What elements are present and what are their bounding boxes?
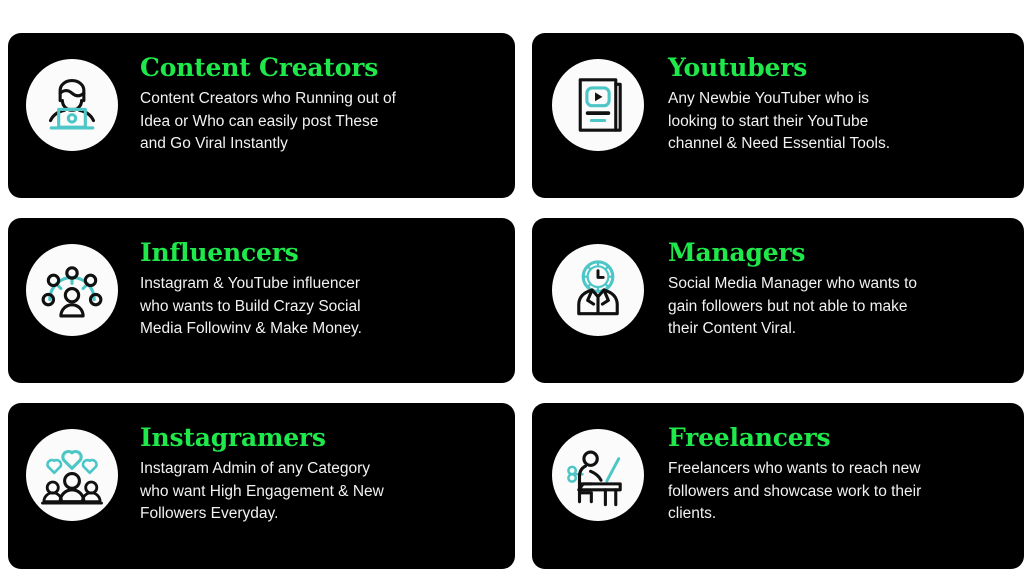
audience-card-content-creators[interactable]: Content Creators Content Creators who Ru… — [8, 33, 515, 198]
card-title: Content Creators — [140, 55, 501, 81]
people-hearts-icon — [26, 429, 118, 521]
card-description: Freelancers who wants to reach new follo… — [668, 458, 1010, 525]
card-text-block: Freelancers Freelancers who wants to rea… — [644, 423, 1010, 526]
card-description: Any Newbie YouTuber who is looking to st… — [668, 88, 1010, 155]
person-laptop-icon — [26, 59, 118, 151]
card-description: Instagram & YouTube influencer who wants… — [140, 273, 501, 340]
person-desk-work-icon — [552, 429, 644, 521]
card-text-block: Youtubers Any Newbie YouTuber who is loo… — [644, 53, 1010, 156]
audience-card-instagramers[interactable]: Instagramers Instagram Admin of any Cate… — [8, 403, 515, 569]
card-description: Content Creators who Running out of Idea… — [140, 88, 501, 155]
card-description: Social Media Manager who wants to gain f… — [668, 273, 1010, 340]
card-title: Managers — [668, 240, 1010, 266]
video-document-play-icon — [552, 59, 644, 151]
audience-card-freelancers[interactable]: Freelancers Freelancers who wants to rea… — [532, 403, 1024, 569]
clock-head-person-icon — [552, 244, 644, 336]
card-title: Influencers — [140, 240, 501, 266]
audience-card-managers[interactable]: Managers Social Media Manager who wants … — [532, 218, 1024, 383]
audience-card-youtubers[interactable]: Youtubers Any Newbie YouTuber who is loo… — [532, 33, 1024, 198]
card-title: Instagramers — [140, 425, 501, 451]
card-text-block: Content Creators Content Creators who Ru… — [118, 53, 501, 156]
card-title: Freelancers — [668, 425, 1010, 451]
audience-card-influencers[interactable]: Influencers Instagram & YouTube influenc… — [8, 218, 515, 383]
person-network-icon — [26, 244, 118, 336]
card-text-block: Managers Social Media Manager who wants … — [644, 238, 1010, 341]
card-title: Youtubers — [668, 55, 1010, 81]
card-text-block: Influencers Instagram & YouTube influenc… — [118, 238, 501, 341]
card-description: Instagram Admin of any Category who want… — [140, 458, 501, 525]
card-text-block: Instagramers Instagram Admin of any Cate… — [118, 423, 501, 526]
audience-card-grid: Content Creators Content Creators who Ru… — [0, 0, 1024, 576]
